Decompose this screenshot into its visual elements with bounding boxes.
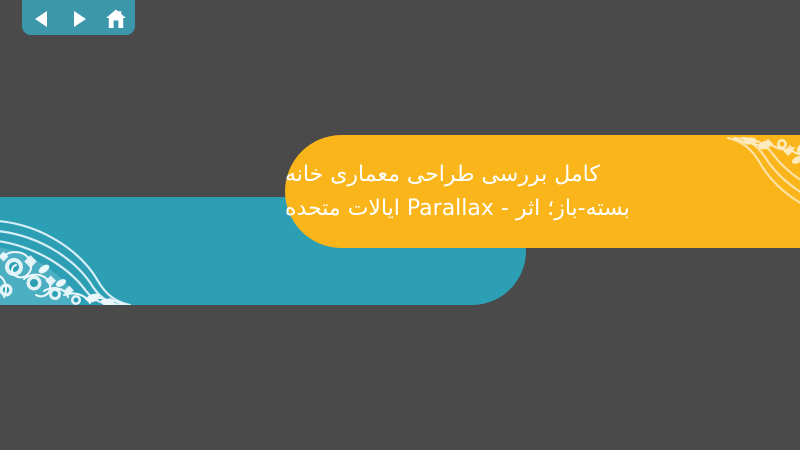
triangle-left-icon: [31, 8, 53, 30]
yellow-banner: [285, 135, 800, 248]
slide-canvas: کامل بررسی طراحی معماری خانه بسته-باز؛ ا…: [0, 0, 800, 450]
home-button[interactable]: [104, 7, 128, 31]
triangle-right-icon: [68, 8, 90, 30]
navigation-bar: [22, 0, 135, 35]
forward-button[interactable]: [67, 7, 91, 31]
arabesque-ornament-yellow: [680, 135, 800, 248]
back-button[interactable]: [30, 7, 54, 31]
home-icon: [104, 7, 128, 31]
arabesque-ornament-teal: [0, 197, 173, 305]
